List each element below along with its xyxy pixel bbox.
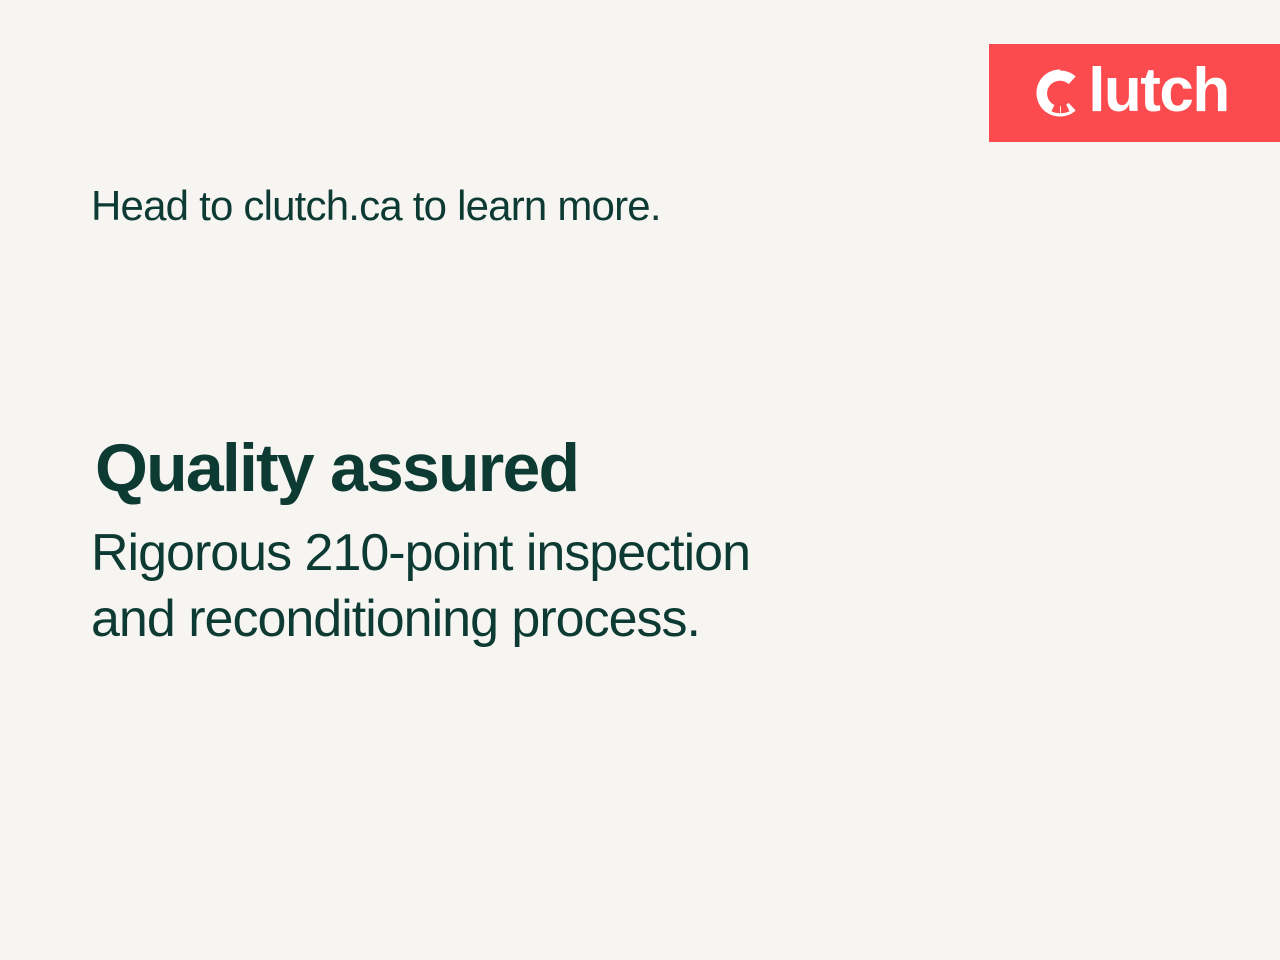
subcopy-text: Rigorous 210-point inspection and recond… bbox=[91, 520, 1091, 652]
subcopy-line-2: and reconditioning process. bbox=[91, 586, 1091, 652]
slide-canvas: lutch Head to clutch.ca to learn more. Q… bbox=[0, 0, 1280, 960]
clutch-c-mark-icon bbox=[1034, 67, 1086, 119]
headline-block: Quality assured Rigorous 210-point inspe… bbox=[91, 434, 1091, 652]
clutch-logo: lutch bbox=[1034, 62, 1229, 124]
clutch-wordmark-text: lutch bbox=[1088, 60, 1229, 122]
kicker-text: Head to clutch.ca to learn more. bbox=[91, 182, 661, 230]
page-title: Quality assured bbox=[95, 434, 1091, 502]
clutch-brand-badge[interactable]: lutch bbox=[989, 44, 1280, 142]
subcopy-line-1: Rigorous 210-point inspection bbox=[91, 520, 1091, 586]
